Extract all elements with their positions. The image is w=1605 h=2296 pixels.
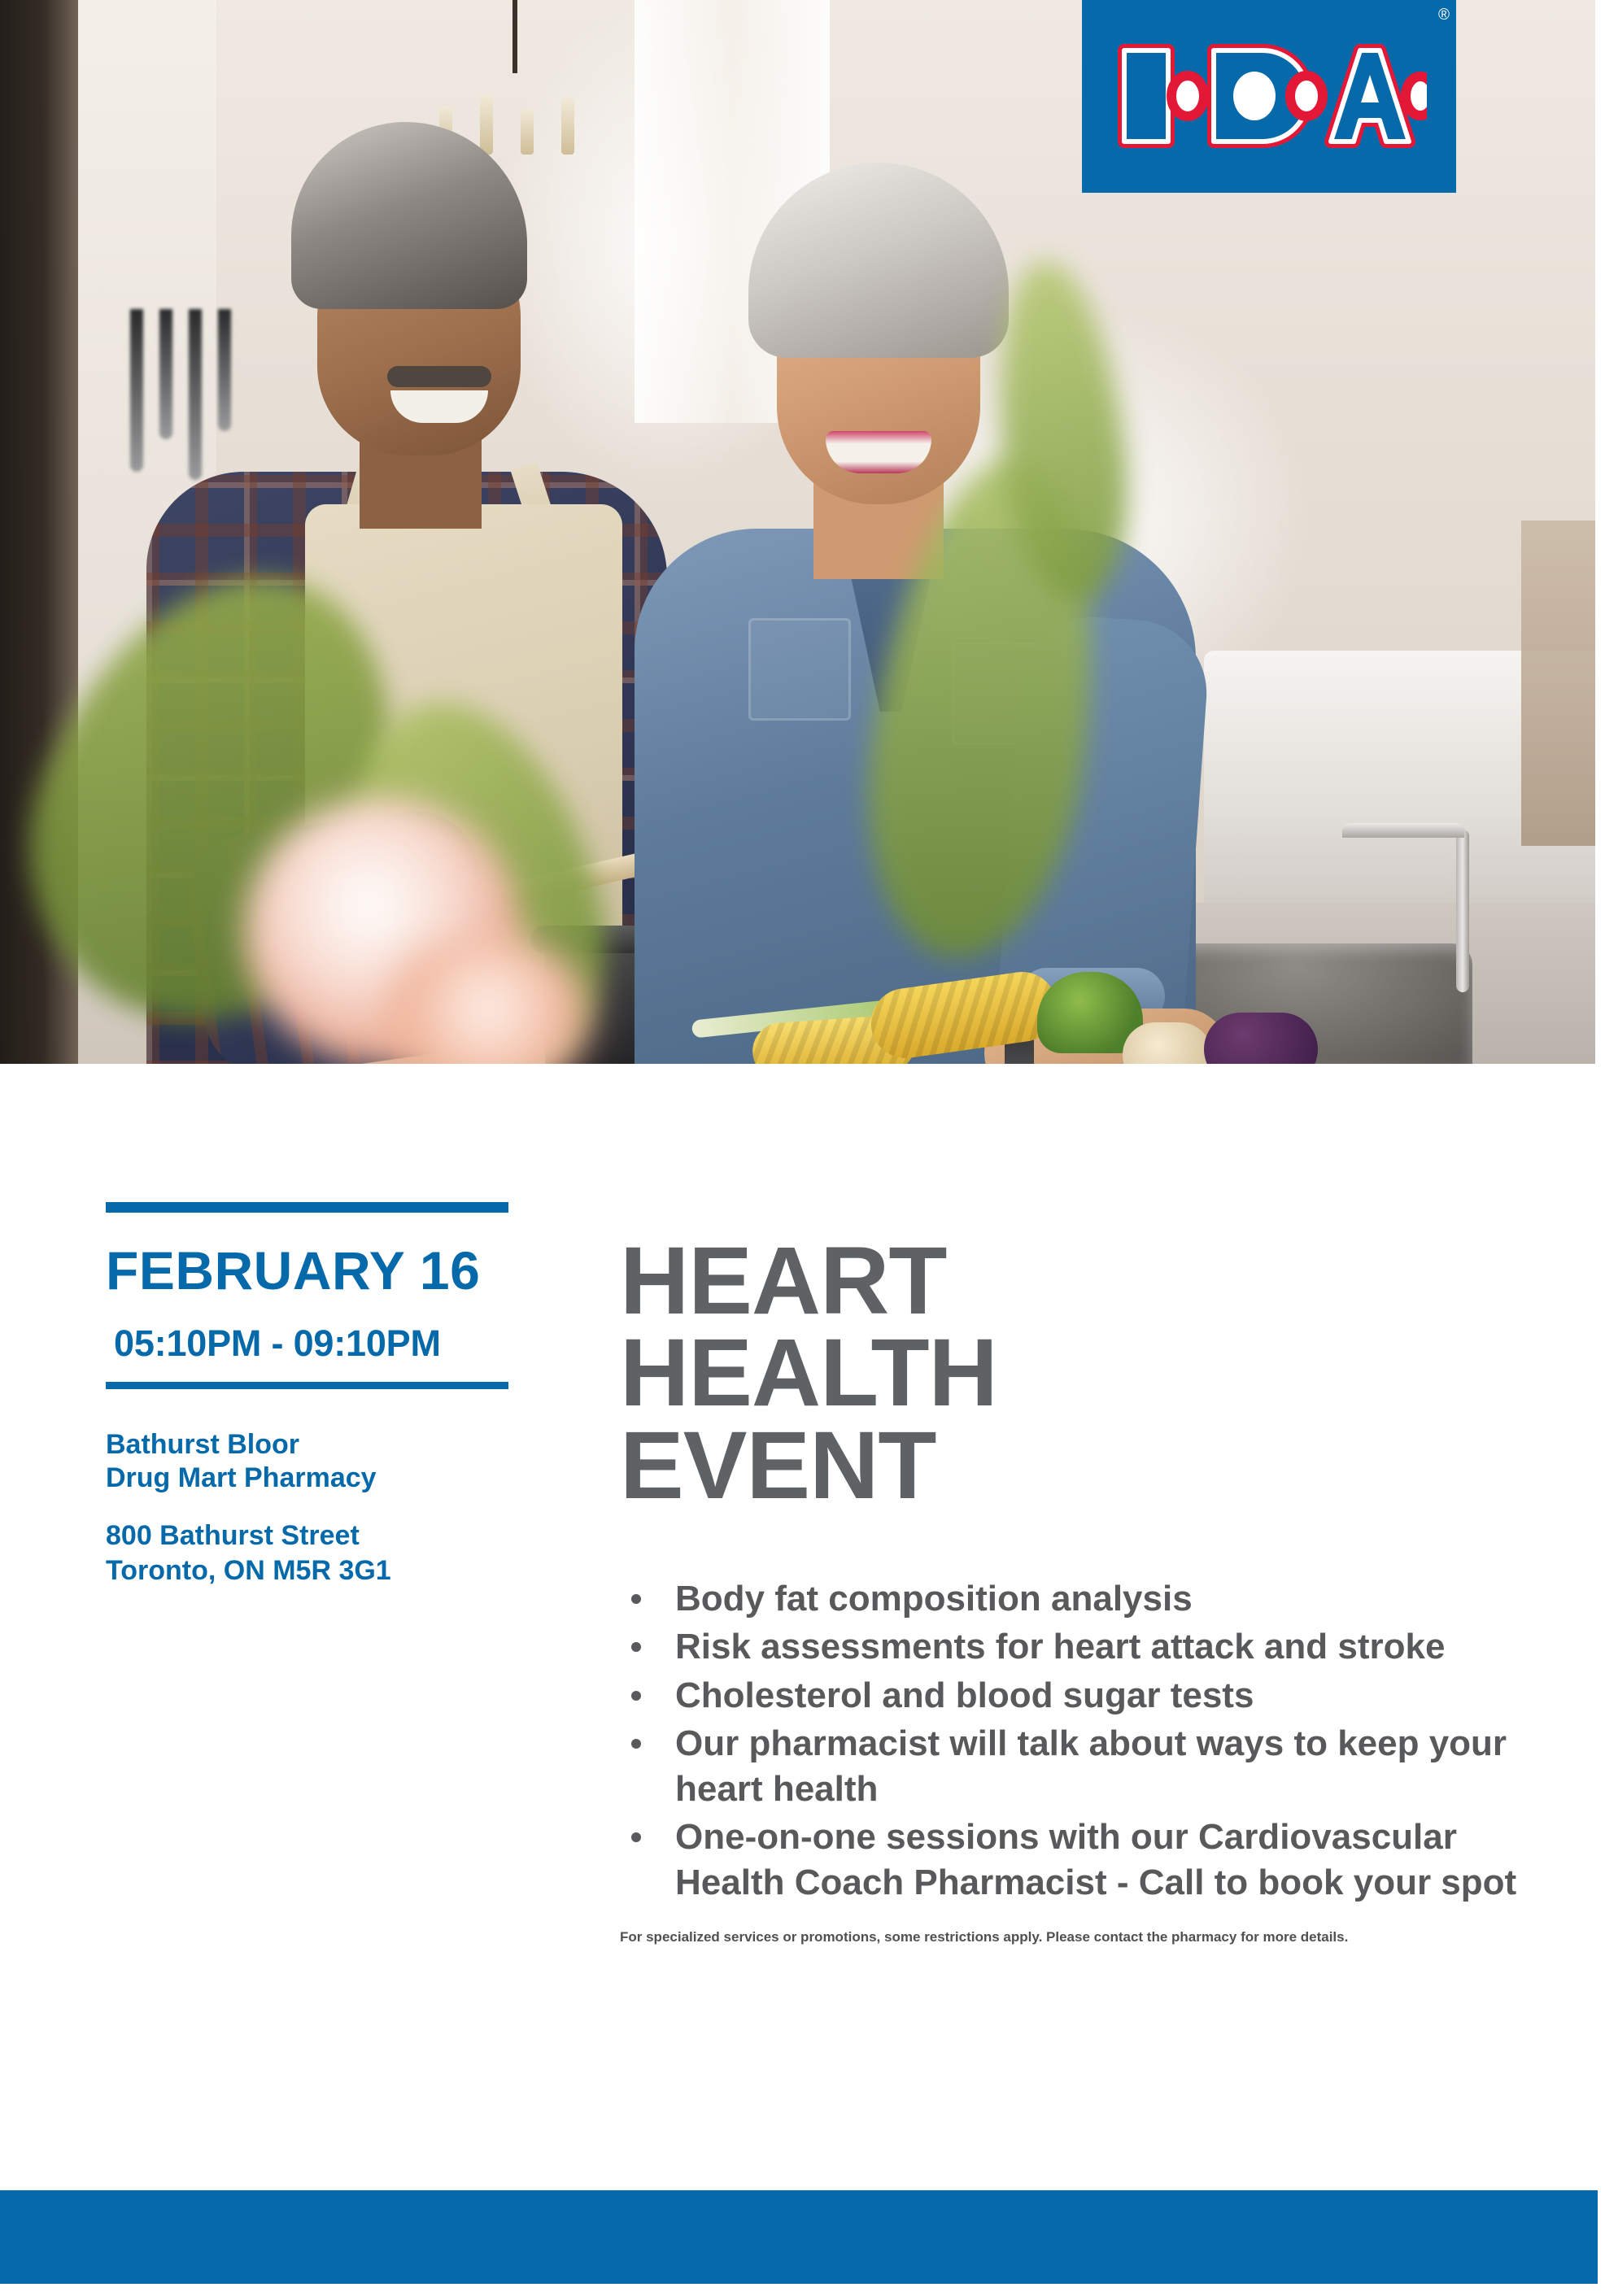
woman-hair <box>748 163 1009 358</box>
eggplant <box>1204 1013 1318 1064</box>
list-item-label: Cholesterol and blood sugar tests <box>675 1675 1254 1715</box>
bullet-dot-icon <box>631 1832 641 1842</box>
list-item: Body fat composition analysis <box>620 1576 1539 1621</box>
title-line-3: EVENT <box>620 1420 1539 1512</box>
store-name-line-1: Bathurst Bloor <box>106 1428 512 1462</box>
bullet-dot-icon <box>631 1594 641 1604</box>
list-item: One-on-one sessions with our Cardiovascu… <box>620 1815 1539 1905</box>
store-name: Bathurst Bloor Drug Mart Pharmacy <box>106 1428 512 1496</box>
disclaimer-text: For specialized services or promotions, … <box>620 1929 1539 1945</box>
list-item-label: Risk assessments for heart attack and st… <box>675 1627 1445 1666</box>
onion <box>1123 1022 1212 1064</box>
poster-content: FEBRUARY 16 05:10PM - 09:10PM Bathurst B… <box>0 1064 1605 2296</box>
vegetables-group <box>667 972 1253 1064</box>
address-line-1: 800 Bathurst Street <box>106 1518 512 1554</box>
event-poster: ® FEBRUARY 16 05:10PM - 09:10PM Bathurst… <box>0 0 1605 2296</box>
list-item-label: Our pharmacist will talk about ways to k… <box>675 1723 1507 1808</box>
woman-smile <box>826 431 931 473</box>
man-hair <box>291 122 527 309</box>
store-name-line-2: Drug Mart Pharmacy <box>106 1462 512 1495</box>
bullet-dot-icon <box>631 1691 641 1701</box>
ida-logo-mark <box>1118 44 1427 148</box>
list-item: Risk assessments for heart attack and st… <box>620 1624 1539 1669</box>
faucet-icon <box>1456 830 1469 992</box>
services-list: Body fat composition analysisRisk assess… <box>620 1576 1539 1905</box>
event-details-column: FEBRUARY 16 05:10PM - 09:10PM Bathurst B… <box>106 1202 512 1589</box>
woman-pocket-left <box>748 618 851 721</box>
divider-top <box>106 1202 508 1213</box>
event-time: 05:10PM - 09:10PM <box>114 1325 512 1361</box>
ida-logo: ® <box>1082 0 1456 193</box>
address-line-2: Toronto, ON M5R 3G1 <box>106 1553 512 1589</box>
list-item-label: One-on-one sessions with our Cardiovascu… <box>675 1817 1516 1902</box>
title-line-2: HEALTH <box>620 1327 1539 1419</box>
divider-bottom <box>106 1382 508 1389</box>
bullet-dot-icon <box>631 1642 641 1652</box>
corn-cob-front <box>866 967 1062 1062</box>
cabinet-right <box>1521 521 1595 846</box>
list-item: Our pharmacist will talk about ways to k… <box>620 1721 1539 1811</box>
store-address: 800 Bathurst Street Toronto, ON M5R 3G1 <box>106 1518 512 1589</box>
title-line-1: HEART <box>620 1235 1539 1327</box>
list-item-label: Body fat composition analysis <box>675 1579 1193 1619</box>
footer-bar <box>0 2190 1598 2284</box>
registered-trademark-icon: ® <box>1438 7 1450 24</box>
event-main-column: HEART HEALTH EVENT Body fat composition … <box>620 1171 1539 1945</box>
bullet-dot-icon <box>631 1739 641 1749</box>
man-mustache <box>387 366 491 387</box>
event-date: FEBRUARY 16 <box>106 1244 512 1297</box>
page-title: HEART HEALTH EVENT <box>620 1235 1539 1512</box>
list-item: Cholesterol and blood sugar tests <box>620 1673 1539 1718</box>
